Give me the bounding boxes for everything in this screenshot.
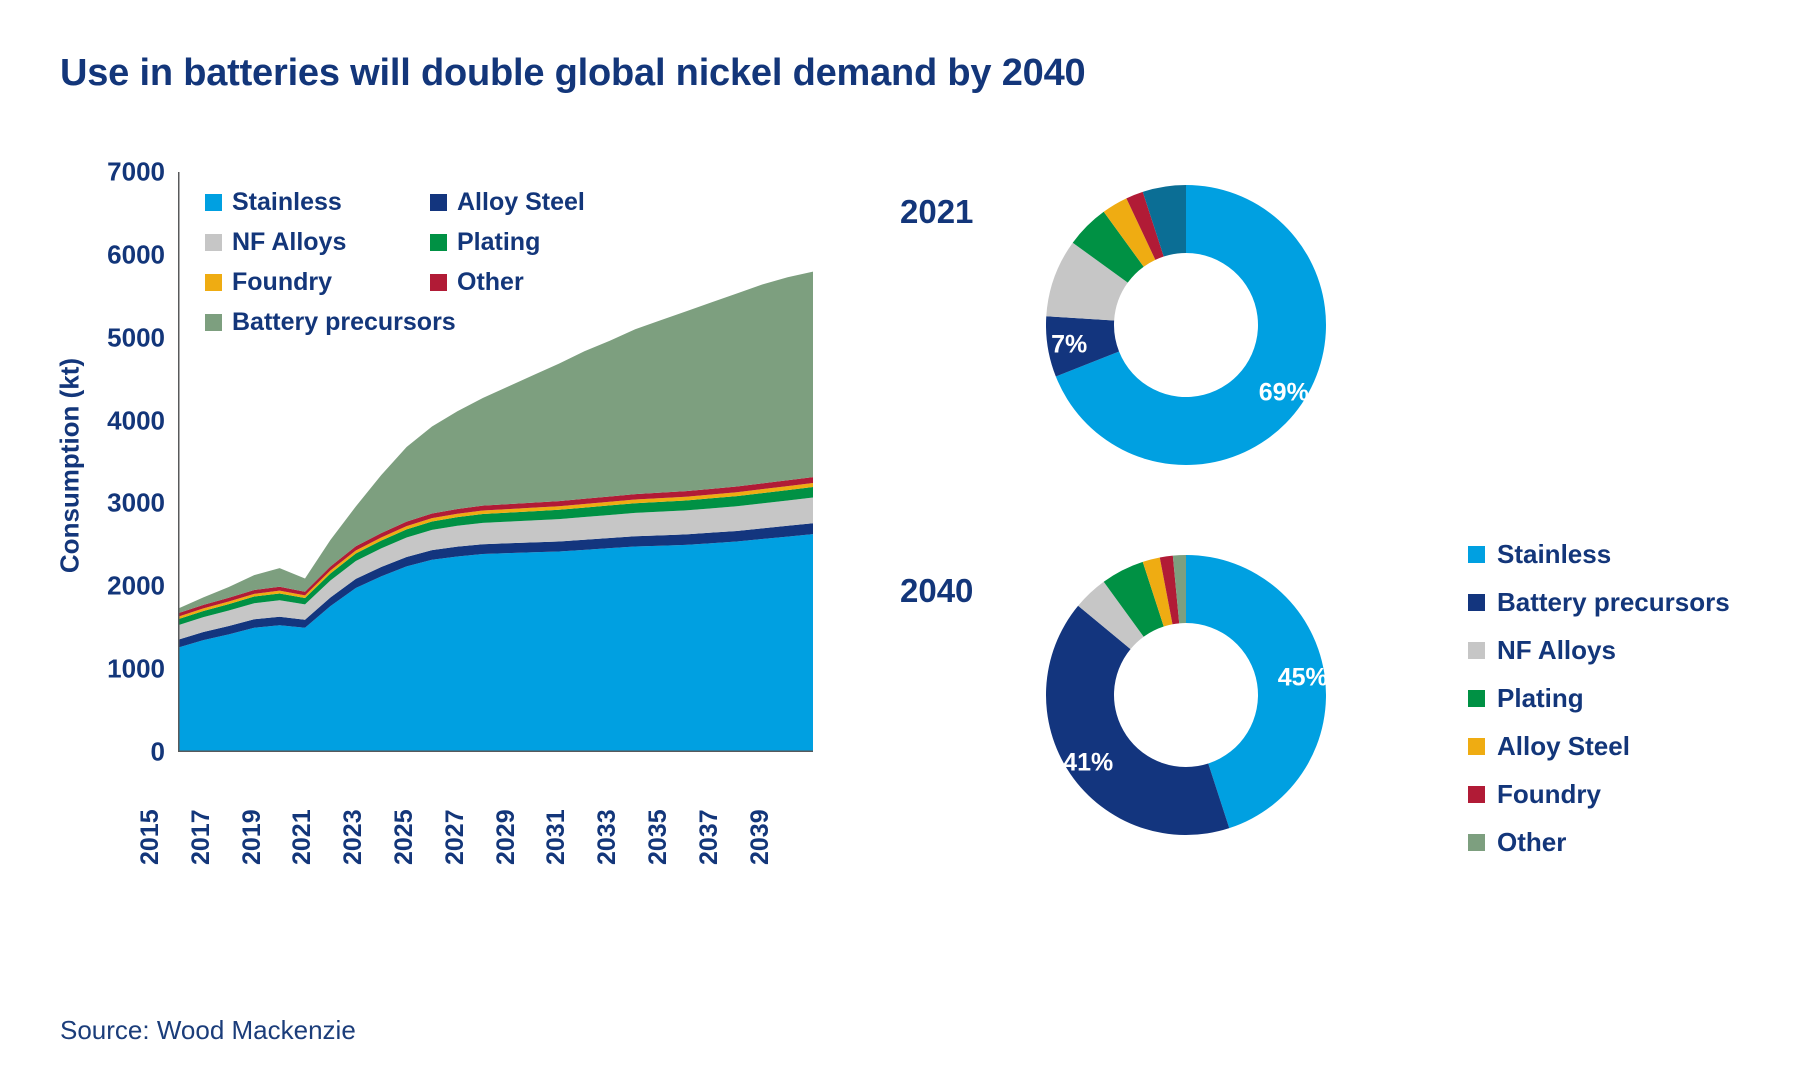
y-axis-tick: 2000	[107, 571, 165, 602]
donut-legend-item-nf-alloys: NF Alloys	[1468, 626, 1798, 674]
x-axis-tick: 2029	[492, 809, 521, 865]
donut-legend-item-foundry: Foundry	[1468, 770, 1798, 818]
legend-swatch-other	[1468, 834, 1485, 851]
legend-swatch-plating	[430, 234, 447, 251]
legend-swatch-nf-alloys	[205, 234, 222, 251]
donut-slice-percent-label: 7%	[1051, 330, 1087, 358]
legend-item-battery-precursors: Battery precursors	[205, 308, 625, 337]
legend-swatch-stainless	[205, 194, 222, 211]
x-axis-tick: 2021	[288, 809, 317, 865]
donut-2021-year-label: 2021	[900, 193, 973, 231]
legend-label: Plating	[1497, 683, 1584, 714]
y-axis-tick: 3000	[107, 488, 165, 519]
legend-row: Battery precursors	[205, 308, 655, 337]
donut-legend-item-alloy-steel: Alloy Steel	[1468, 722, 1798, 770]
x-axis-tick: 2019	[238, 809, 267, 865]
donut-legend-item-stainless: Stainless	[1468, 530, 1798, 578]
x-axis-tick: 2027	[441, 809, 470, 865]
legend-row: Stainless Alloy Steel	[205, 188, 655, 217]
legend-item-plating: Plating	[430, 228, 655, 257]
legend-swatch-foundry	[1468, 786, 1485, 803]
donut-slice-percent-label: 41%	[1063, 748, 1113, 776]
legend-swatch-other	[430, 274, 447, 291]
legend-label: Alloy Steel	[1497, 731, 1630, 762]
legend-label: Battery precursors	[232, 308, 456, 337]
legend-swatch-alloy-steel	[430, 194, 447, 211]
x-axis-tick: 2031	[542, 809, 571, 865]
x-axis-tick: 2023	[339, 809, 368, 865]
source-note: Source: Wood Mackenzie	[60, 1015, 356, 1046]
donut-2040-svg: 45%41%	[1046, 530, 1326, 860]
y-axis-tick: 6000	[107, 239, 165, 270]
y-axis-tick-labels: 01000200030004000500060007000	[95, 172, 165, 752]
donut-chart-legend: Stainless Battery precursors NF Alloys P…	[1468, 530, 1798, 866]
legend-row: Foundry Other	[205, 268, 655, 297]
x-axis-tick: 2017	[187, 809, 216, 865]
legend-label: Other	[1497, 827, 1566, 858]
x-axis-tick: 2035	[644, 809, 673, 865]
y-axis-tick: 5000	[107, 322, 165, 353]
donut-chart-2021: 2021 69%7%	[900, 165, 1320, 495]
legend-swatch-nf-alloys	[1468, 642, 1485, 659]
legend-swatch-battery-precursors	[205, 314, 222, 331]
legend-label: NF Alloys	[1497, 635, 1616, 666]
x-axis-tick: 2033	[593, 809, 622, 865]
legend-item-foundry: Foundry	[205, 268, 430, 297]
y-axis-tick: 0	[151, 737, 165, 768]
area-series-stainless	[178, 534, 813, 752]
legend-label: Plating	[457, 228, 540, 257]
legend-item-other: Other	[430, 268, 655, 297]
legend-label: Battery precursors	[1497, 587, 1730, 618]
legend-label: Alloy Steel	[457, 188, 585, 217]
y-axis-tick: 7000	[107, 157, 165, 188]
stacked-area-chart: Consumption (kt) 01000200030004000500060…	[0, 150, 900, 870]
legend-label: NF Alloys	[232, 228, 346, 257]
donut-2040-year-label: 2040	[900, 572, 973, 610]
legend-row: NF Alloys Plating	[205, 228, 655, 257]
page-title: Use in batteries will double global nick…	[60, 52, 1085, 95]
legend-swatch-alloy-steel	[1468, 738, 1485, 755]
legend-label: Stainless	[1497, 539, 1611, 570]
legend-swatch-battery-precursors	[1468, 594, 1485, 611]
donut-2021-svg: 69%7%	[1046, 165, 1326, 485]
legend-label: Stainless	[232, 188, 342, 217]
legend-swatch-plating	[1468, 690, 1485, 707]
legend-label: Foundry	[232, 268, 332, 297]
legend-swatch-stainless	[1468, 546, 1485, 563]
x-axis-tick: 2025	[390, 809, 419, 865]
donut-legend-item-other: Other	[1468, 818, 1798, 866]
donut-slice-percent-label: 69%	[1259, 378, 1309, 406]
y-axis-tick: 4000	[107, 405, 165, 436]
y-axis-tick: 1000	[107, 654, 165, 685]
legend-label: Foundry	[1497, 779, 1601, 810]
legend-item-alloy-steel: Alloy Steel	[430, 188, 655, 217]
donut-legend-item-battery-precursors: Battery precursors	[1468, 578, 1798, 626]
legend-label: Other	[457, 268, 524, 297]
area-chart-legend: Stainless Alloy Steel NF Alloys Plating …	[205, 188, 655, 348]
legend-swatch-foundry	[205, 274, 222, 291]
donut-legend-item-plating: Plating	[1468, 674, 1798, 722]
legend-item-nf-alloys: NF Alloys	[205, 228, 430, 257]
x-axis-tick: 2037	[695, 809, 724, 865]
legend-item-stainless: Stainless	[205, 188, 430, 217]
donut-slice-percent-label: 45%	[1278, 664, 1326, 692]
y-axis-title: Consumption (kt)	[55, 266, 86, 666]
x-axis-tick: 2015	[136, 809, 165, 865]
x-axis-tick: 2039	[746, 809, 775, 865]
x-axis-tick-labels: 2015201720192021202320252027202920312033…	[178, 760, 818, 870]
